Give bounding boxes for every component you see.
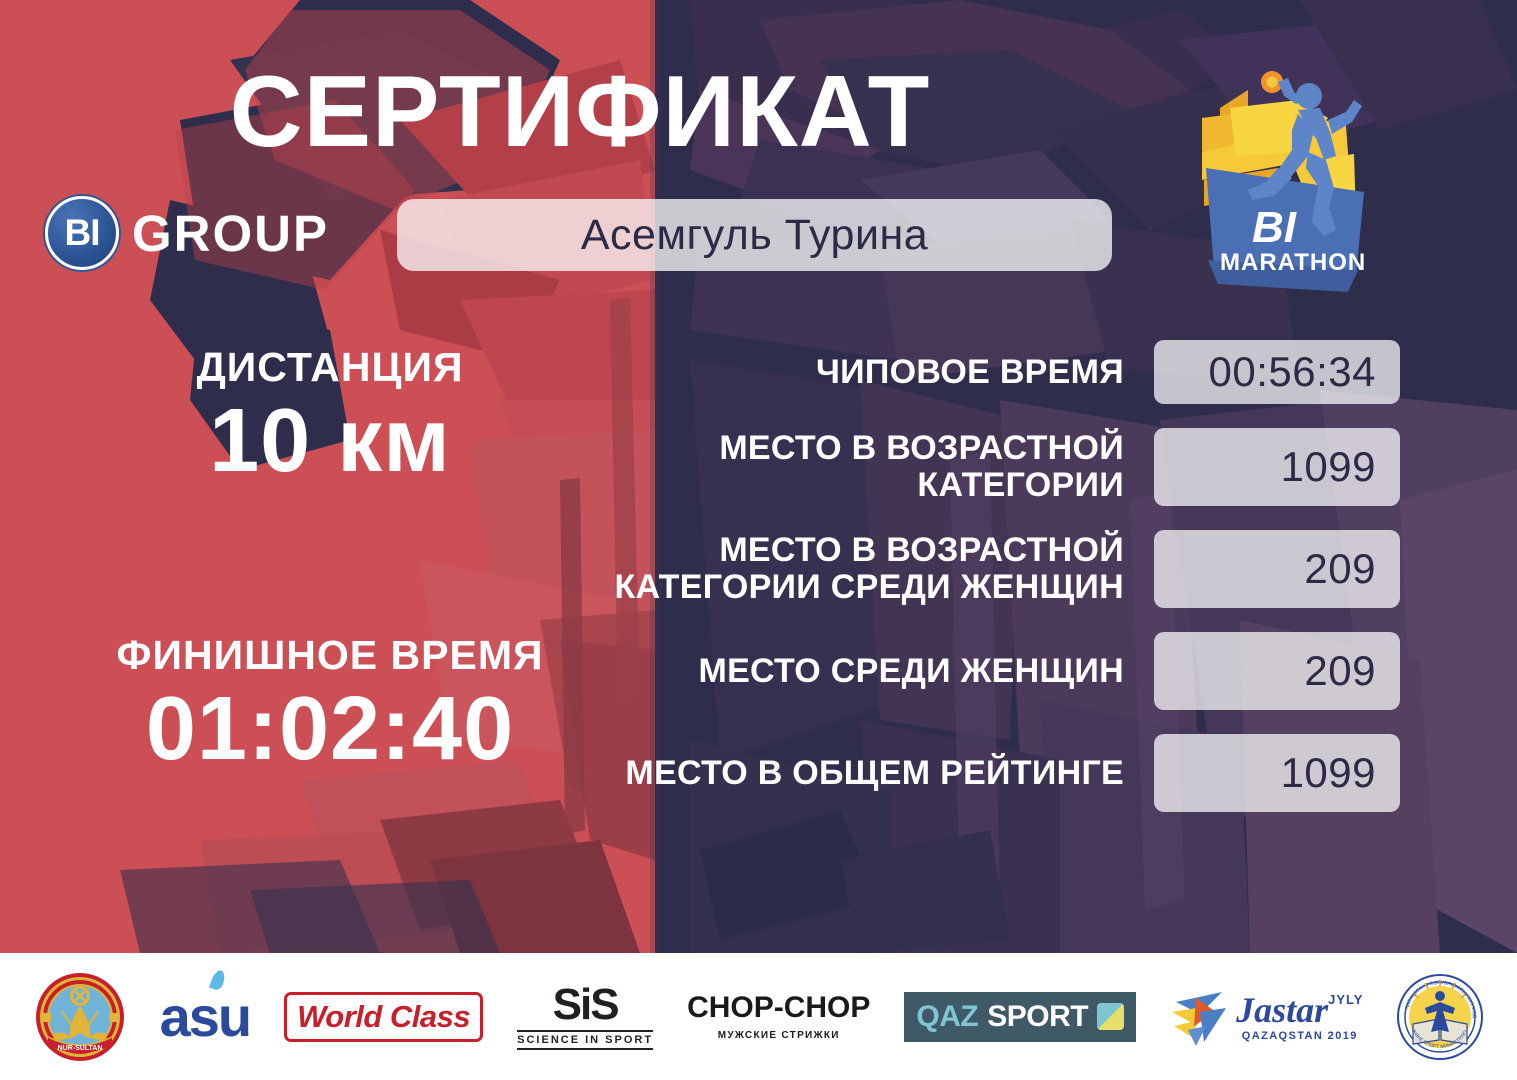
bi-marathon-logo: BI MARATHON [1178,60,1396,310]
distance-label: ДИСТАНЦИЯ [95,345,565,391]
world-class-logo: World Class [284,992,483,1042]
age-category-place-value: 1099 [1154,428,1400,506]
stat-row-overall-place: МЕСТО В ОБЩЕМ РЕЙТИНГЕ 1099 [520,734,1400,812]
bi-marathon-mark: BI MARATHON [1178,60,1396,310]
age-category-place-label: МЕСТО В ВОЗРАСТНОЙ КАТЕГОРИИ [520,430,1124,503]
left-column-spacer [95,490,565,633]
sis-tagline: SCIENCE IN SPORT [517,1030,653,1050]
chop-chop-wordmark: CHOP-CHOP [687,993,870,1023]
participant-name: Асемгуль Турина [581,211,928,260]
sponsor-footer: NUR-SULTAN asu World Class SiS SCIENCE I… [0,953,1517,1080]
qazsport-qaz-text: QAZ [916,1000,978,1034]
jastar-jyly-text: JYLY [1328,992,1363,1007]
age-category-women-place-value: 209 [1154,530,1400,608]
women-place-label: МЕСТО СРЕДИ ЖЕНЩИН [520,653,1124,690]
sponsor-nur-sultan: NUR-SULTAN [34,971,126,1063]
chop-chop-tagline: МУЖСКИЕ СТРИЖКИ [687,1030,870,1041]
sis-logo: SiS SCIENCE IN SPORT [517,983,653,1050]
chip-time-label: ЧИПОВОЕ ВРЕМЯ [520,354,1124,391]
stat-row-women-place: МЕСТО СРЕДИ ЖЕНЩИН 209 [520,632,1400,710]
qazsport-logo: QAZ SPORT [904,992,1136,1042]
marathon-word-text: MARATHON [1220,249,1366,276]
sponsor-sis: SiS SCIENCE IN SPORT [517,983,653,1050]
certificate-page: СЕРТИФИКАТ BI GROUP Асемгуль Турина [0,0,1517,1080]
sponsor-ministry: ҚАЗАҚСТАН РЕСПУБЛИКАСЫНЫҢ МӘДЕНИЕТ ЖӘНЕ … [1397,974,1483,1060]
stat-row-chip-time: ЧИПОВОЕ ВРЕМЯ 00:56:34 [520,340,1400,404]
asu-wordmark: asu [160,984,251,1049]
ministry-emblem-icon: ҚАЗАҚСТАН РЕСПУБЛИКАСЫНЫҢ МӘДЕНИЕТ ЖӘНЕ … [1397,974,1483,1060]
qazsport-square-icon [1097,1003,1124,1030]
jastar-text-block: Jastar JYLY QAZAQSTAN 2019 [1236,992,1363,1042]
age-category-women-place-label: МЕСТО В ВОЗРАСТНОЙ КАТЕГОРИИ СРЕДИ ЖЕНЩИ… [520,532,1124,605]
participant-name-badge: Асемгуль Турина [397,199,1112,271]
jastar-logo: Jastar JYLY QAZAQSTAN 2019 [1170,986,1363,1048]
sponsor-jastar: Jastar JYLY QAZAQSTAN 2019 [1170,986,1363,1048]
overall-place-label: МЕСТО В ОБЩЕМ РЕЙТИНГЕ [520,755,1124,792]
sponsor-chop-chop: CHOP-CHOP МУЖСКИЕ СТРИЖКИ [687,993,870,1041]
bi-group-wordmark: GROUP [132,204,329,263]
chop-chop-logo: CHOP-CHOP МУЖСКИЕ СТРИЖКИ [687,993,870,1041]
finish-time-label: ФИНИШНОЕ ВРЕМЯ [95,633,565,679]
bi-group-logo: BI GROUP [45,196,329,270]
chip-time-value: 00:56:34 [1154,340,1400,404]
sponsor-asu: asu [160,984,251,1049]
overall-place-value: 1099 [1154,734,1400,812]
marathon-bi-text: BI [1252,203,1297,252]
stat-row-age-category-women-place: МЕСТО В ВОЗРАСТНОЙ КАТЕГОРИИ СРЕДИ ЖЕНЩИ… [520,530,1400,608]
finish-time-value: 01:02:40 [95,681,565,778]
bi-badge-icon: BI [45,196,119,270]
jastar-tagline: QAZAQSTAN 2019 [1236,1030,1363,1042]
distance-value: 10 км [95,393,565,490]
nur-sultan-emblem-icon: NUR-SULTAN [34,971,126,1063]
stat-row-age-category-place: МЕСТО В ВОЗРАСТНОЙ КАТЕГОРИИ 1099 [520,428,1400,506]
page-title: СЕРТИФИКАТ [0,62,1160,163]
asu-logo: asu [160,984,251,1049]
qazsport-sport-text: SPORT [987,1000,1088,1034]
distance-block: ДИСТАНЦИЯ 10 км [95,345,565,490]
right-stats-column: ЧИПОВОЕ ВРЕМЯ 00:56:34 МЕСТО В ВОЗРАСТНО… [520,340,1400,812]
finish-time-block: ФИНИШНОЕ ВРЕМЯ 01:02:40 [95,633,565,778]
sponsor-qazsport: QAZ SPORT [904,992,1136,1042]
sponsor-world-class: World Class [284,992,483,1042]
left-stats-column: ДИСТАНЦИЯ 10 км ФИНИШНОЕ ВРЕМЯ 01:02:40 [95,345,565,778]
sis-wordmark: SiS [517,983,653,1027]
nur-sultan-label: NUR-SULTAN [57,1045,102,1052]
jastar-wordmark: Jastar [1236,992,1328,1028]
jastar-arrow-icon [1170,986,1230,1048]
women-place-value: 209 [1154,632,1400,710]
